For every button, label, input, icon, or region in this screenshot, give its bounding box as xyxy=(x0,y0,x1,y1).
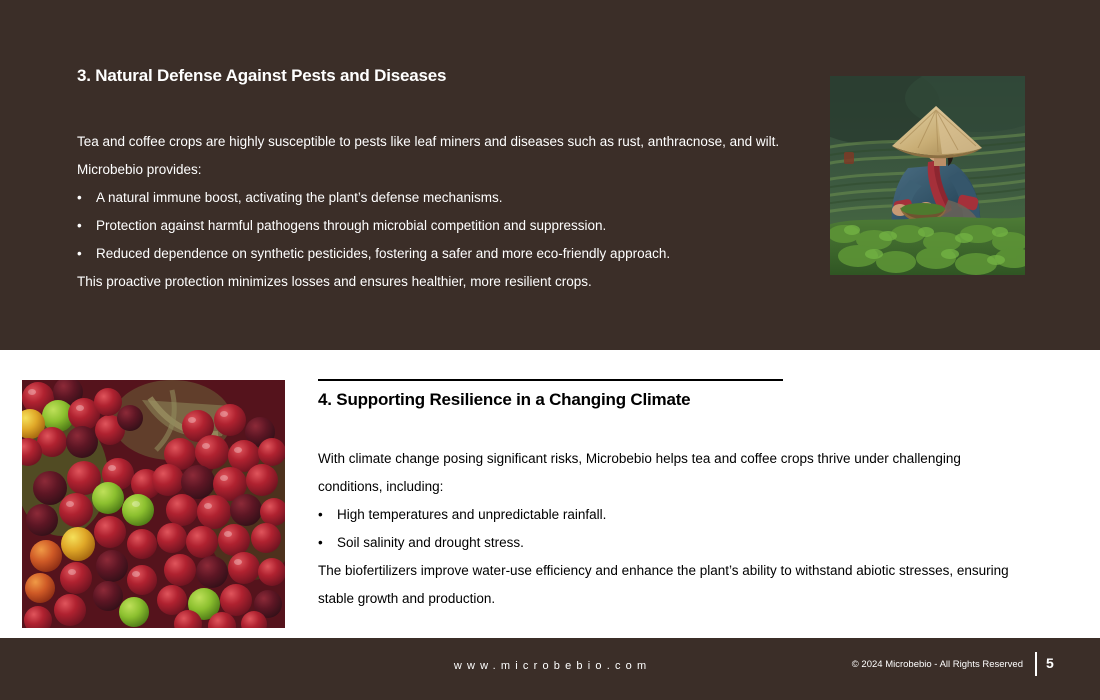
bullet-icon: • xyxy=(77,212,96,240)
section-four-divider xyxy=(318,379,783,381)
list-item: • High temperatures and unpredictable ra… xyxy=(318,501,1018,529)
bullet-icon: • xyxy=(318,529,337,557)
top-dark-panel: 3. Natural Defense Against Pests and Dis… xyxy=(0,0,1100,350)
section-four-body: With climate change posing significant r… xyxy=(318,445,1018,613)
section-four-heading: 4. Supporting Resilience in a Changing C… xyxy=(318,390,690,410)
page-number: 5 xyxy=(1046,655,1054,671)
list-item: • Soil salinity and drought stress. xyxy=(318,529,1018,557)
list-item-label: Protection against harmful pathogens thr… xyxy=(96,212,792,240)
bullet-icon: • xyxy=(318,501,337,529)
section-four-intro: With climate change posing significant r… xyxy=(318,445,1018,501)
list-item: • Protection against harmful pathogens t… xyxy=(77,212,792,240)
list-item-label: Reduced dependence on synthetic pesticid… xyxy=(96,240,792,268)
section-three-body: Tea and coffee crops are highly suscepti… xyxy=(77,128,792,296)
list-item-label: High temperatures and unpredictable rain… xyxy=(337,501,1018,529)
section-three-heading: 3. Natural Defense Against Pests and Dis… xyxy=(77,66,446,86)
section-three-closing: This proactive protection minimizes loss… xyxy=(77,268,792,296)
coffee-cherries-photo xyxy=(22,380,285,628)
footer-divider xyxy=(1035,652,1037,676)
list-item-label: A natural immune boost, activating the p… xyxy=(96,184,792,212)
bullet-icon: • xyxy=(77,240,96,268)
list-item: • Reduced dependence on synthetic pestic… xyxy=(77,240,792,268)
list-item: • A natural immune boost, activating the… xyxy=(77,184,792,212)
tea-picker-photo xyxy=(830,76,1025,275)
section-four-closing: The biofertilizers improve water-use eff… xyxy=(318,557,1018,613)
section-three-intro: Tea and coffee crops are highly suscepti… xyxy=(77,128,792,184)
bullet-icon: • xyxy=(77,184,96,212)
footer-copyright: © 2024 Microbebio - All Rights Reserved xyxy=(852,659,1023,670)
list-item-label: Soil salinity and drought stress. xyxy=(337,529,1018,557)
